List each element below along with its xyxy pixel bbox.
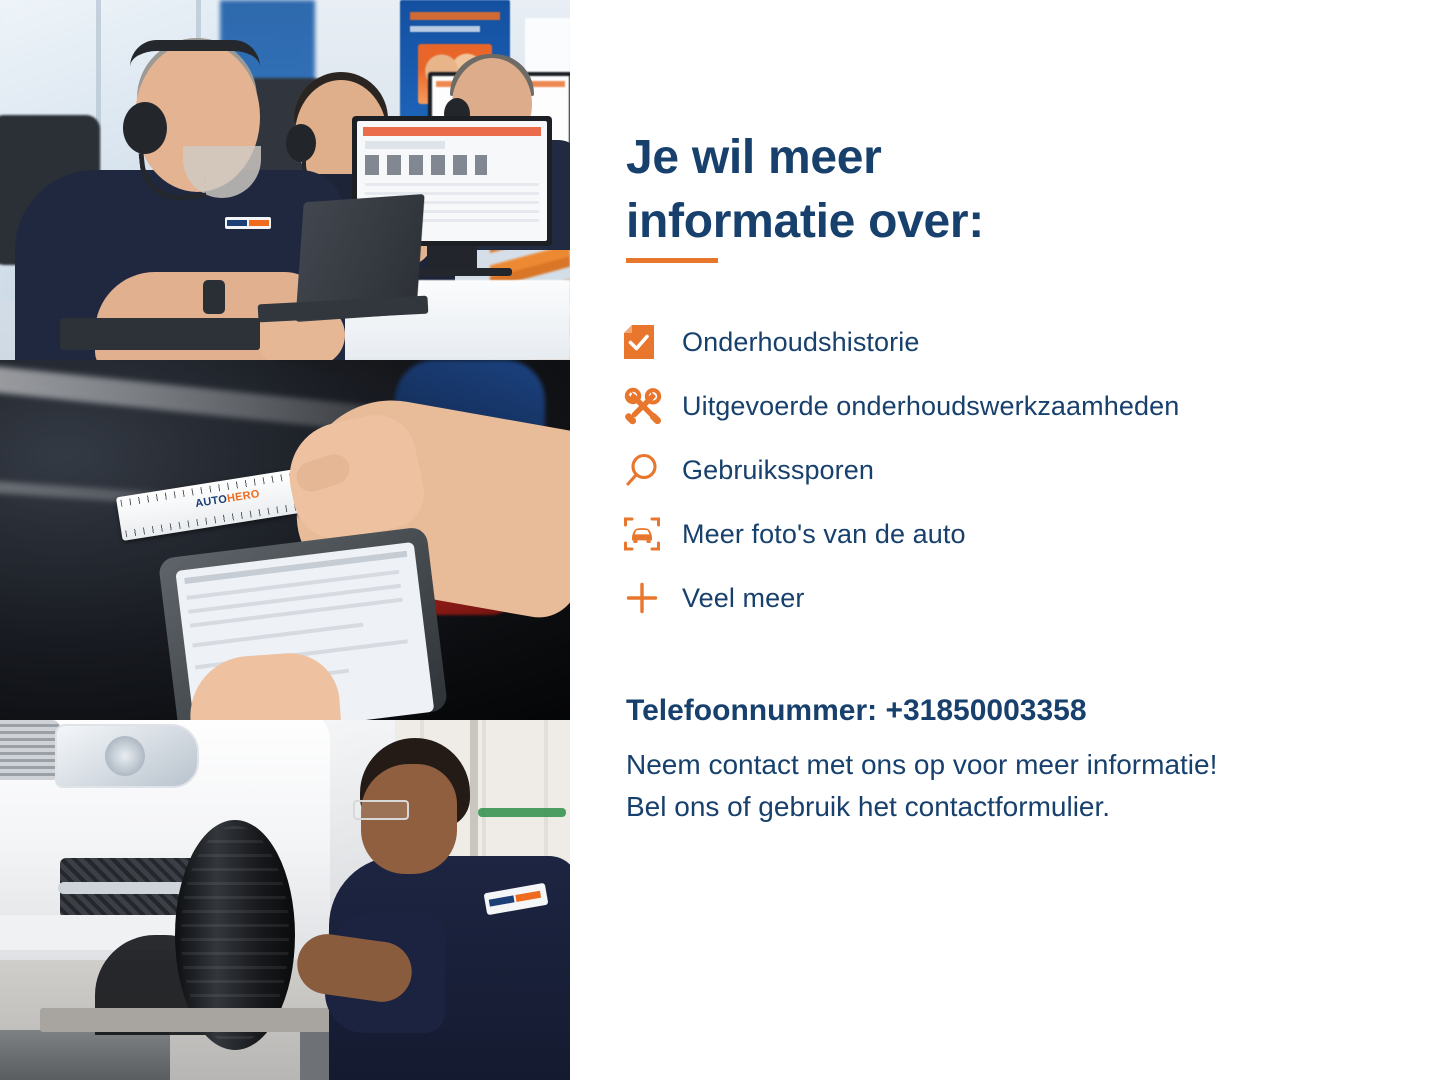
tools-wrench-screwdriver-icon	[624, 387, 682, 425]
phone-number: Telefoonnummer: +31850003358	[626, 694, 1087, 728]
list-item: Meer foto's van de auto	[624, 502, 1384, 566]
list-item: Veel meer	[624, 566, 1384, 630]
feature-list: Onderhoudshistorie	[624, 310, 1384, 630]
contact-text: Neem contact met ons op voor meer inform…	[626, 744, 1366, 828]
contact-line-2: Bel ons of gebruik het contactformulier.	[626, 786, 1366, 828]
photo3-grille	[0, 720, 60, 780]
photo-column: AUTOHERO	[0, 0, 570, 1080]
photo3-cabinet	[0, 1030, 170, 1080]
list-item: Gebruikssporen	[624, 438, 1384, 502]
contact-line-1: Neem contact met ons op voor meer inform…	[626, 744, 1366, 786]
document-check-icon	[624, 325, 682, 359]
list-item-label: Gebruikssporen	[682, 457, 874, 484]
car-inspection-ruler-photo: AUTOHERO	[0, 360, 570, 720]
list-item: Uitgevoerde onderhoudswerkzaamheden	[624, 374, 1384, 438]
promo-banner: AUTOHERO	[0, 0, 1440, 1080]
list-item-label: Veel meer	[682, 585, 804, 612]
list-item-label: Onderhoudshistorie	[682, 329, 919, 356]
car-scan-frame-icon	[624, 516, 682, 552]
photo3-headlight	[55, 724, 199, 788]
plus-icon	[624, 580, 682, 616]
call-center-agents-photo	[0, 0, 570, 360]
list-item: Onderhoudshistorie	[624, 310, 1384, 374]
photo3-mechanic	[335, 738, 570, 1080]
list-item-label: Uitgevoerde onderhoudswerkzaamheden	[682, 393, 1179, 420]
photo1-tablet-on-desk	[60, 318, 260, 350]
mechanic-wheel-photo	[0, 720, 570, 1080]
photo3-lift-platform	[40, 1008, 370, 1032]
content-panel: Je wil meerinformatie over: Onderhoudshi…	[570, 0, 1440, 1080]
page-title: Je wil meerinformatie over:	[626, 126, 1116, 254]
list-item-label: Meer foto's van de auto	[682, 521, 966, 548]
title-divider	[626, 258, 718, 263]
magnifying-glass-icon	[624, 452, 682, 488]
